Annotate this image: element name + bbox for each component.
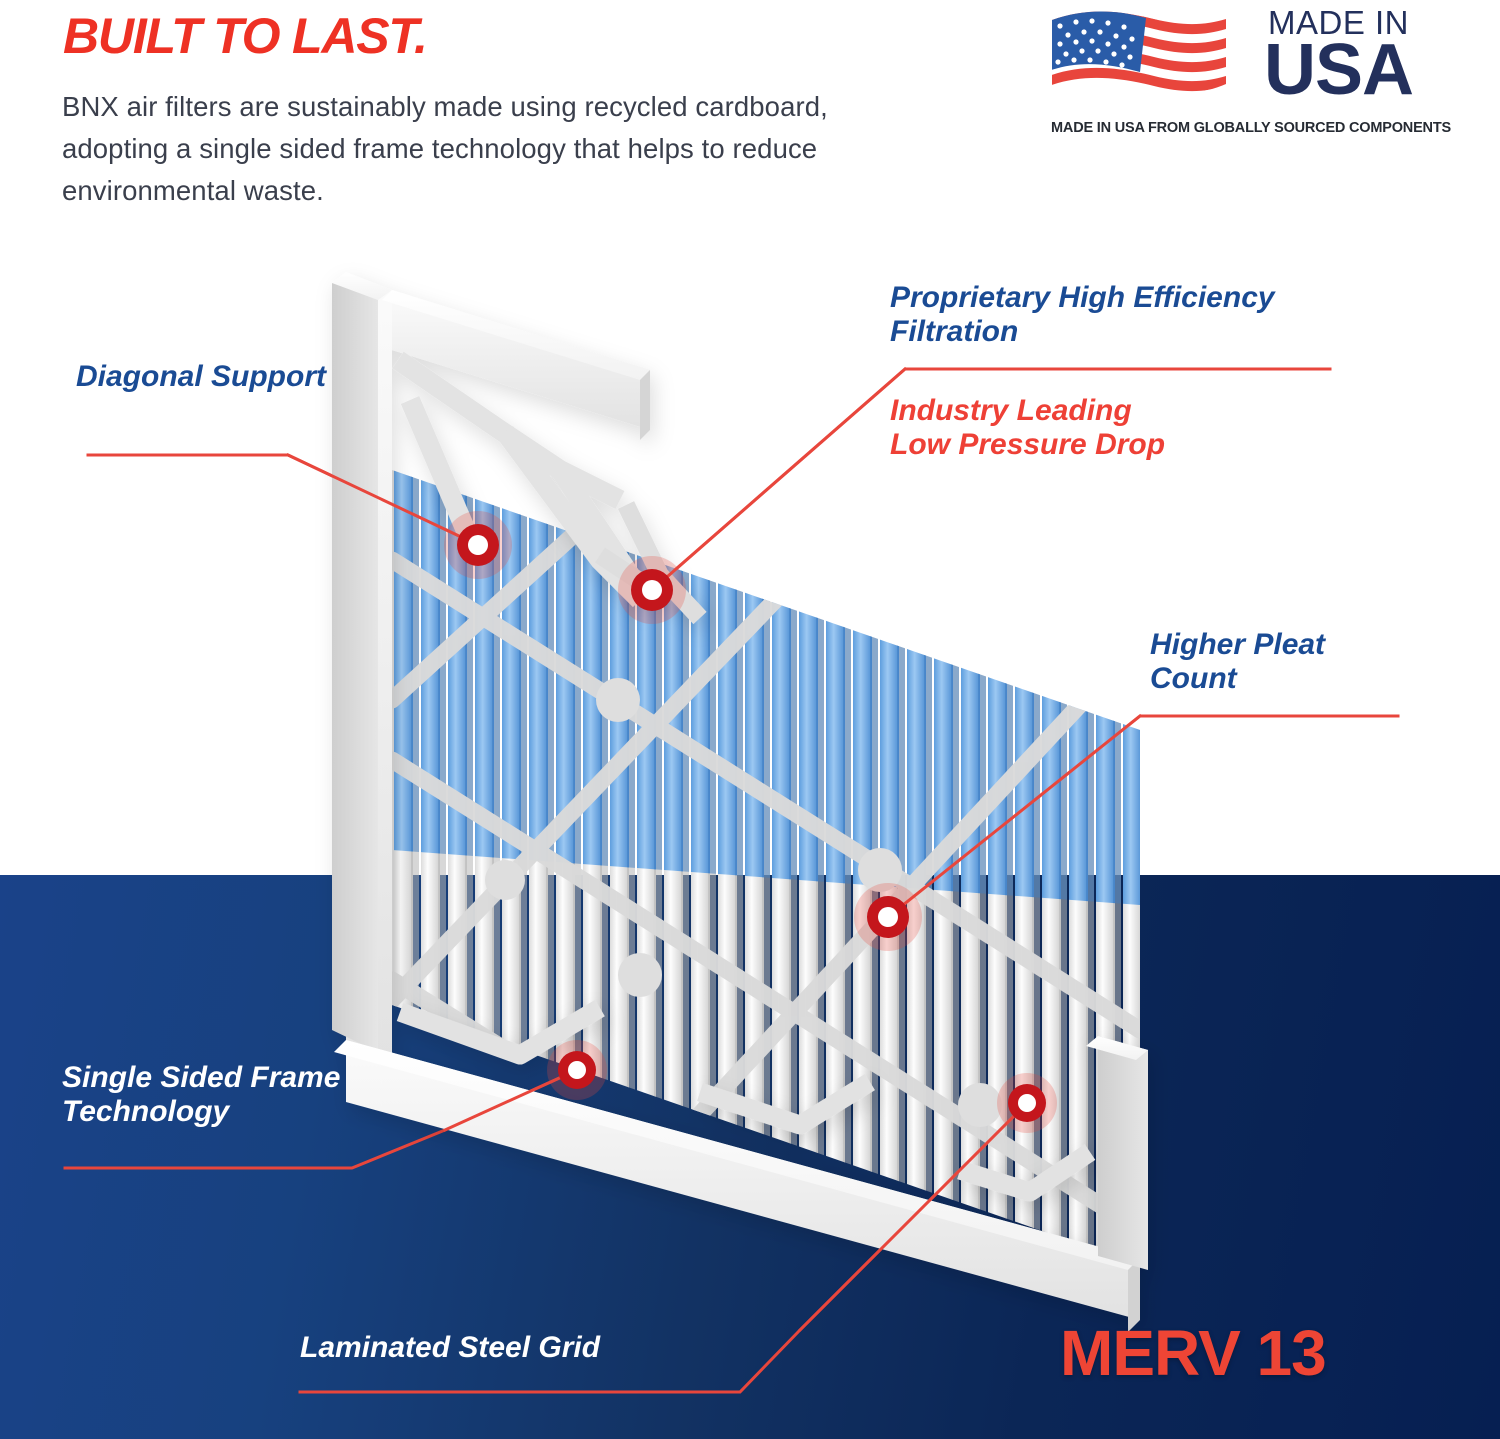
callout-label-layer: Diagonal Support Proprietary High Effici…	[0, 0, 1500, 1439]
callout-diagonal-support: Diagonal Support	[76, 360, 326, 394]
merv-rating-label: MERV 13	[1060, 1321, 1326, 1385]
callout-laminated-steel-grid: Laminated Steel Grid	[300, 1331, 600, 1365]
callout-pressure-drop: Industry Leading Low Pressure Drop	[890, 394, 1190, 462]
callout-pleat-count: Higher Pleat Count	[1150, 628, 1410, 696]
callout-proprietary-filtration: Proprietary High Efficiency Filtration	[890, 281, 1280, 349]
callout-single-sided-frame: Single Sided Frame Technology	[62, 1061, 462, 1129]
infographic-canvas: BUILT TO LAST. BNX air filters are susta…	[0, 0, 1500, 1439]
